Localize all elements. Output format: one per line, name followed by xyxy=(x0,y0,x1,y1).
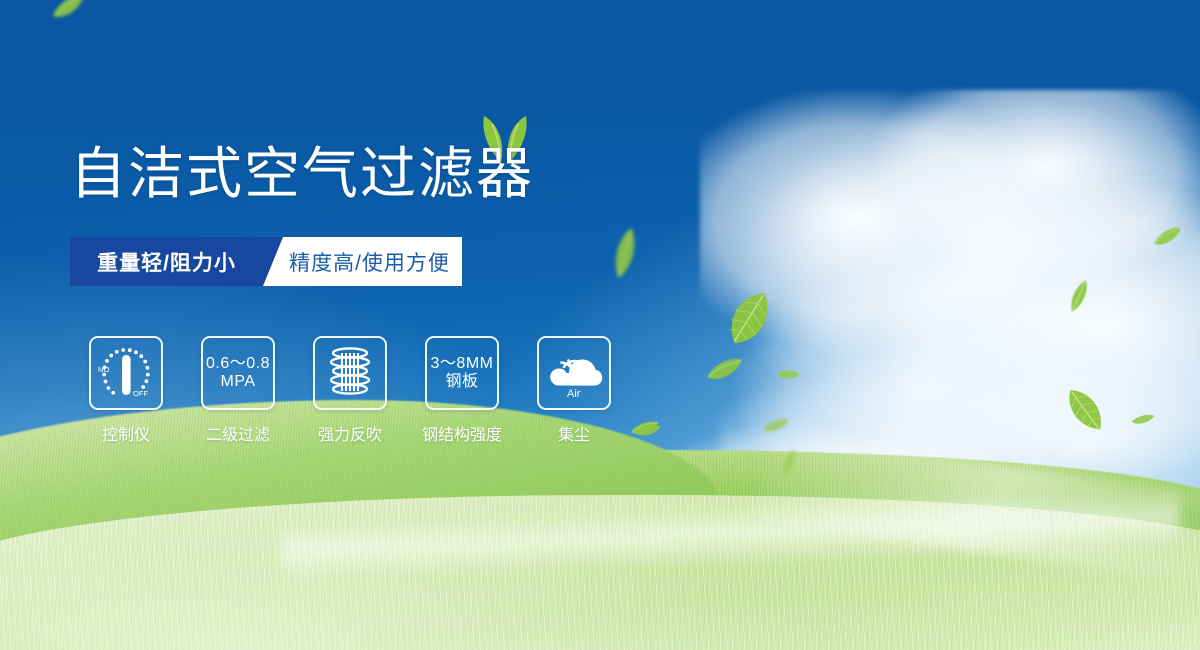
pressure-range-value: 0.6〜0.8 xyxy=(206,355,270,372)
sky-top-gradient xyxy=(0,0,1200,150)
filter-coil-icon xyxy=(313,336,387,410)
feature-item-steel-strength[interactable]: 3〜8MM 钢板 钢结构强度 xyxy=(406,336,518,445)
gauge-off-label: OFF xyxy=(133,389,149,398)
air-cloud-icon: Air xyxy=(537,336,611,410)
steel-plate-value-icon: 3〜8MM 钢板 xyxy=(425,336,499,410)
pressure-value-icon: 0.6〜0.8 MPA xyxy=(201,336,275,410)
steel-plate-label: 钢板 xyxy=(431,373,494,391)
feature-label: 集尘 xyxy=(558,421,590,445)
feature-label: 强力反吹 xyxy=(318,421,382,445)
feature-label: 二级过滤 xyxy=(206,421,270,445)
grass-light-sheen xyxy=(0,500,1200,650)
subtitle-bar: 重量轻/阻力小 精度高/使用方便 xyxy=(70,237,462,286)
pressure-unit-value: MPA xyxy=(206,373,270,391)
feature-item-two-stage-filter[interactable]: 0.6〜0.8 MPA 二级过滤 xyxy=(182,336,294,445)
subtitle-left-segment: 重量轻/阻力小 xyxy=(70,237,263,286)
feature-item-strong-blowback[interactable]: 强力反吹 xyxy=(294,336,406,445)
gauge-dial-icon: NO OFF xyxy=(89,336,163,410)
page-title: 自洁式空气过滤器 xyxy=(70,146,534,202)
air-label: Air xyxy=(567,388,581,400)
product-hero-banner: 自洁式空气过滤器 重量轻/阻力小 精度高/使用方便 xyxy=(0,0,1200,650)
feature-label: 钢结构强度 xyxy=(422,421,502,445)
subtitle-right-segment: 精度高/使用方便 xyxy=(263,237,462,286)
gauge-no-label: NO xyxy=(98,365,109,374)
steel-thickness-value: 3〜8MM xyxy=(431,355,494,372)
feature-item-controller[interactable]: NO OFF 控制仪 xyxy=(70,336,182,445)
feature-item-dust-collection[interactable]: Air 集尘 xyxy=(518,336,630,445)
feature-label: 控制仪 xyxy=(102,421,150,445)
feature-list: NO OFF 控制仪 0.6〜0.8 MPA 二级过滤 xyxy=(70,336,630,445)
